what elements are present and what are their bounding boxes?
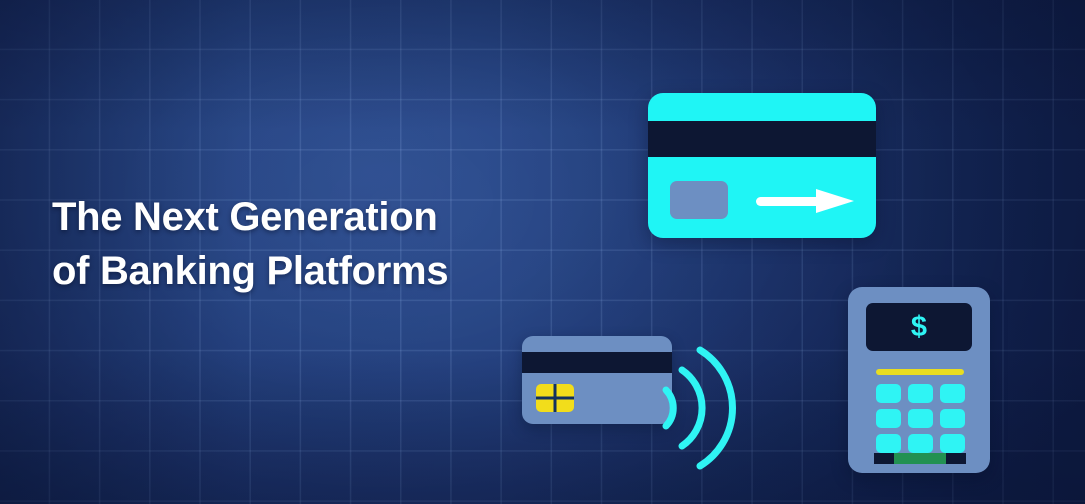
terminal-key	[908, 409, 933, 428]
terminal-key	[876, 409, 901, 428]
credit-card-swipe-icon	[648, 93, 876, 238]
terminal-keypad	[876, 384, 966, 453]
headline-line-1: The Next Generation	[52, 190, 572, 244]
terminal-key	[876, 384, 901, 403]
terminal-key	[940, 384, 965, 403]
terminal-key	[908, 384, 933, 403]
headline: The Next Generation of Banking Platforms	[52, 190, 572, 298]
terminal-footer-right	[946, 453, 966, 464]
card-chip	[670, 181, 728, 219]
banner-hero: The Next Generation of Banking Platforms…	[0, 0, 1085, 504]
emv-chip-icon	[536, 384, 574, 412]
terminal-card-slot	[876, 369, 964, 375]
contactless-waves-icon	[660, 334, 740, 482]
terminal-key	[876, 434, 901, 453]
terminal-footer-left	[874, 453, 894, 464]
terminal-footer-accent	[894, 453, 946, 464]
terminal-key	[940, 409, 965, 428]
swipe-arrow-icon	[756, 189, 856, 213]
contactless-card-icon	[522, 336, 672, 424]
terminal-screen: $	[866, 303, 972, 351]
card-magnetic-stripe	[648, 121, 876, 157]
headline-line-2: of Banking Platforms	[52, 244, 572, 298]
terminal-key	[908, 434, 933, 453]
terminal-key	[940, 434, 965, 453]
contactless-card-stripe	[522, 352, 672, 373]
dollar-sign-icon: $	[911, 313, 927, 342]
terminal-footer-strip	[874, 453, 966, 464]
pos-terminal-icon: $	[848, 287, 990, 473]
